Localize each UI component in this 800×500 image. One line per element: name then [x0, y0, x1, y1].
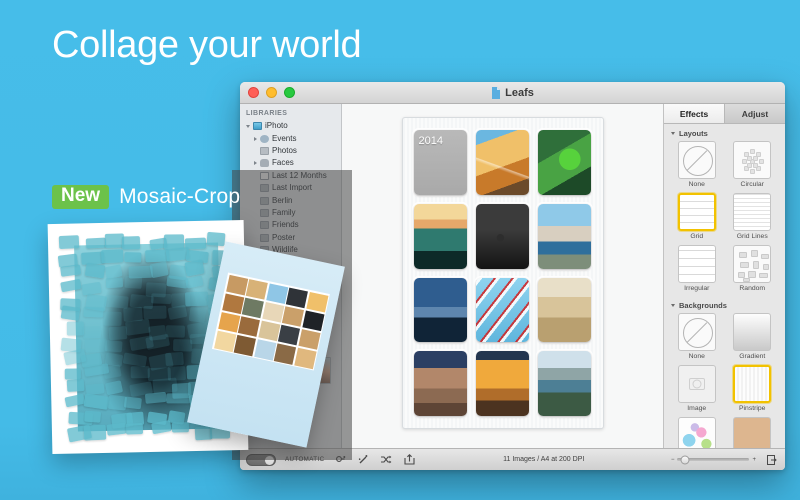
option-thumbnail[interactable] [733, 417, 771, 448]
card-grid-cell [262, 302, 284, 323]
circular-node [753, 156, 758, 161]
random-tile [761, 254, 769, 259]
zoom-slider-track[interactable] [677, 458, 749, 461]
mosaic-tile [124, 252, 141, 263]
photo-sunset-sea[interactable] [414, 204, 467, 269]
mosaic-tile [104, 264, 122, 278]
window-title: Leafs [505, 87, 534, 99]
section-header-layouts[interactable]: Layouts [664, 124, 785, 141]
mosaic-tile [184, 259, 204, 276]
mosaic-tile [105, 341, 122, 353]
option-label: Random [739, 285, 765, 292]
mosaic-tile [83, 307, 104, 318]
photo-orange-building[interactable] [476, 351, 529, 416]
option-thumbnail[interactable] [733, 245, 771, 283]
share-icon[interactable] [765, 453, 779, 467]
option-grid-backgrounds: NoneGradientImagePinstripePolka DotsSoli… [664, 313, 785, 448]
mosaic-tile [85, 411, 102, 423]
inspector-panel: EffectsAdjust LayoutsNoneCircularGridGri… [663, 104, 785, 448]
window-titlebar: Leafs [240, 82, 785, 104]
mosaic-tile [123, 397, 141, 410]
circular-node [753, 163, 758, 168]
mosaic-tile [125, 276, 143, 290]
option-thumbnail[interactable] [678, 245, 716, 283]
page-headline: Collage your world [52, 24, 361, 67]
mosaic-tile [207, 231, 226, 245]
card-grid-cell [214, 330, 236, 351]
tab-adjust[interactable]: Adjust [725, 104, 785, 123]
card-grid-cell [286, 287, 308, 308]
sidebar-item-label: iPhoto [265, 122, 288, 130]
option-thumbnail[interactable] [678, 193, 716, 231]
mosaic-tile [109, 326, 128, 340]
random-tile [763, 264, 769, 270]
disclosure-triangle-icon[interactable] [254, 161, 257, 165]
option-image[interactable]: Image [671, 365, 723, 412]
mosaic-tile [172, 422, 189, 433]
photo-green-sculpture[interactable] [538, 130, 591, 195]
section-header-backgrounds[interactable]: Backgrounds [664, 296, 785, 313]
card-grid-cell [274, 343, 296, 364]
card-grid-cell [222, 293, 244, 314]
random-tile [759, 273, 768, 278]
chevron-down-icon [671, 304, 675, 307]
option-label: Gradient [739, 353, 765, 360]
section-title: Layouts [679, 129, 708, 138]
card-grid-cell [306, 291, 328, 312]
mosaic-tile [166, 393, 190, 403]
card-grid-cell [302, 310, 324, 331]
mosaic-tile [151, 294, 171, 305]
option-irregular[interactable]: Irregular [671, 245, 723, 292]
sidebar-item-label: Faces [272, 159, 294, 167]
photo-church-square[interactable] [414, 351, 467, 416]
mosaic-tile [166, 325, 185, 337]
card-grid-cell [226, 274, 248, 295]
photo-cliff-beach[interactable] [538, 351, 591, 416]
mosaic-tile [106, 277, 124, 288]
card-grid-cell [282, 306, 304, 327]
tab-effects[interactable]: Effects [664, 104, 725, 123]
random-tile [753, 261, 759, 269]
disclosure-triangle-icon[interactable] [254, 137, 257, 141]
card-grid-cell [294, 348, 316, 369]
photo-blue-sea[interactable] [414, 278, 467, 343]
faces-icon [260, 159, 269, 167]
photo-library-icon [253, 122, 262, 130]
option-thumbnail[interactable] [678, 313, 716, 351]
card-grid-cell [254, 339, 276, 360]
option-thumbnail[interactable] [733, 193, 771, 231]
option-grid-lines[interactable]: Grid Lines [727, 193, 779, 240]
random-tile [739, 252, 747, 258]
sidebar-item-photos[interactable]: Photos [240, 145, 341, 157]
mosaic-tile [82, 326, 100, 338]
option-random[interactable]: Random [727, 245, 779, 292]
option-gradient[interactable]: Gradient [727, 313, 779, 360]
random-tile [740, 262, 749, 268]
collage-page[interactable]: 2014 [402, 117, 604, 429]
mosaic-tile [86, 237, 107, 248]
album-icon [260, 147, 269, 155]
photo-red-airshow[interactable] [476, 278, 529, 343]
magic-wand-icon[interactable] [356, 453, 370, 467]
mosaic-tile [85, 383, 104, 395]
option-thumbnail[interactable] [678, 417, 716, 448]
option-solid-color[interactable]: Solid Color [727, 417, 779, 448]
sidebar-header: LIBRARIES [240, 110, 341, 120]
card-grid-cell [234, 335, 256, 356]
card-grid-cell [278, 325, 300, 346]
shuffle-icon[interactable] [379, 453, 393, 467]
mosaic-tile [144, 306, 167, 319]
mosaic-tile [122, 237, 140, 251]
mosaic-tile [106, 422, 126, 435]
events-icon [260, 135, 269, 143]
option-thumbnail[interactable] [733, 141, 771, 179]
photo-bridge[interactable] [476, 130, 529, 195]
inspector-sections: LayoutsNoneCircularGridGrid LinesIrregul… [664, 124, 785, 448]
option-polka-dots[interactable]: Polka Dots [671, 417, 723, 448]
window-title-wrap: Leafs [240, 82, 785, 104]
mosaic-tile [126, 423, 144, 434]
sidebar-item-label: Events [272, 135, 296, 143]
photo-boat-dark-water[interactable] [476, 204, 529, 269]
option-thumbnail[interactable] [733, 365, 771, 403]
random-tile [743, 278, 750, 282]
sidebar-item-events[interactable]: Events [240, 132, 341, 144]
zoom-slider[interactable]: − + [671, 457, 756, 463]
zoom-out-label[interactable]: − [671, 457, 675, 463]
card-grid-cell [218, 312, 240, 333]
zoom-in-label[interactable]: + [752, 457, 756, 463]
section-title: Backgrounds [679, 301, 727, 310]
cover-cell-2014[interactable]: 2014 [414, 130, 467, 195]
option-grid-layouts: NoneCircularGridGrid LinesIrregularRando… [664, 141, 785, 296]
promo-screenshot: Collage your world Leafs LIBRARIES iPhot… [0, 0, 800, 500]
option-thumbnail[interactable] [733, 313, 771, 351]
mosaic-tile [101, 249, 124, 263]
card-grid-cell [246, 279, 268, 300]
option-label: Image [687, 405, 706, 412]
card-grid-cell [298, 329, 320, 350]
mosaic-tile [188, 307, 206, 323]
photo-coast-rocks[interactable] [538, 204, 591, 269]
mosaic-tile [67, 379, 85, 392]
option-label: Pinstripe [739, 405, 765, 412]
mosaic-tile [67, 321, 84, 335]
chevron-down-icon [671, 132, 675, 135]
circular-node [747, 163, 752, 168]
disclosure-triangle-icon[interactable] [246, 125, 250, 128]
option-label: Circular [741, 181, 764, 188]
circular-node [750, 149, 755, 154]
option-grid[interactable]: Grid [671, 193, 723, 240]
option-label: Grid [690, 233, 703, 240]
mosaic-tile [151, 420, 171, 434]
mosaic-tile [185, 292, 208, 306]
option-none[interactable]: None [671, 313, 723, 360]
cell-caption: 2014 [419, 135, 443, 147]
photo-wheat-field[interactable] [538, 278, 591, 343]
option-label: Irregular [684, 285, 709, 292]
document-status: 11 Images / A4 at 200 DPI [425, 456, 662, 463]
option-thumbnail[interactable] [678, 141, 716, 179]
option-none[interactable]: None [671, 141, 723, 188]
card-grid-cell [238, 316, 260, 337]
option-label: Grid Lines [737, 233, 768, 240]
option-label: None [689, 353, 705, 360]
zoom-slider-knob[interactable] [681, 455, 690, 464]
sidebar-item-faces[interactable]: Faces [240, 157, 341, 169]
card-grid-cell [258, 320, 280, 341]
option-thumbnail[interactable] [678, 365, 716, 403]
mosaic-tiles [48, 220, 244, 224]
mosaic-tile [104, 312, 122, 326]
mosaic-tile [65, 368, 82, 379]
mosaic-tile [165, 352, 184, 366]
card-photo-grid [212, 273, 330, 371]
card-grid-cell [242, 297, 264, 318]
promo-title: Mosaic-Crop [119, 185, 240, 209]
export-icon[interactable] [402, 453, 416, 467]
sidebar-item-iphoto[interactable]: iPhoto [240, 120, 341, 132]
circular-node [750, 169, 755, 174]
camera-icon [689, 378, 705, 390]
mosaic-tile [61, 305, 80, 320]
card-grid-cell [266, 283, 288, 304]
new-badge: New [52, 185, 109, 209]
option-pinstripe[interactable]: Pinstripe [727, 365, 779, 412]
mosaic-tile [83, 425, 106, 441]
option-label: None [689, 181, 705, 188]
mosaic-tile [58, 235, 78, 249]
random-tile [751, 250, 758, 257]
circular-node [747, 156, 752, 161]
circular-node [759, 159, 764, 164]
random-tile [748, 271, 756, 278]
option-circular[interactable]: Circular [727, 141, 779, 188]
inspector-tabs[interactable]: EffectsAdjust [664, 104, 785, 124]
promo-banner: New Mosaic-Crop [52, 185, 240, 209]
sidebar-item-label: Photos [272, 147, 297, 155]
collage-canvas[interactable]: 2014 [342, 104, 663, 448]
document-icon [491, 87, 501, 99]
